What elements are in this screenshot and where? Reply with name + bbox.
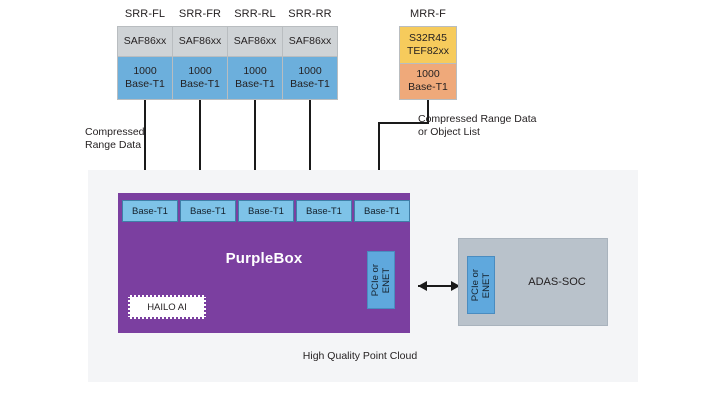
hailo-ai-accelerator[interactable]: HAILO AI bbox=[128, 295, 206, 319]
sensor-module-srr-rr: SAF86xx 1000 Base-T1 bbox=[282, 26, 338, 100]
sensor-chip-label: SAF86xx bbox=[173, 27, 227, 57]
diagram-canvas: SRR-FL SAF86xx 1000 Base-T1 SRR-FR SAF86… bbox=[0, 0, 720, 405]
sensor-chip-label: S32R45 TEF82xx bbox=[400, 27, 456, 64]
sensor-chip-label: SAF86xx bbox=[118, 27, 172, 57]
sensor-module-mrr-f: S32R45 TEF82xx 1000 Base-T1 bbox=[399, 26, 457, 100]
sensor-chip-label: SAF86xx bbox=[228, 27, 282, 57]
sensor-title-srr-rl: SRR-RL bbox=[227, 8, 283, 20]
sensor-chip-label: SAF86xx bbox=[283, 27, 337, 57]
soc-pcie-enet-interface[interactable]: PCIe or ENET bbox=[467, 256, 495, 314]
arrowhead-left-icon bbox=[418, 281, 427, 291]
purplebox-interface-label: PCIe or ENET bbox=[370, 264, 392, 296]
annotation-compressed-range-data: Compressed Range Data bbox=[85, 126, 145, 152]
annotation-compressed-range-or-object-list: Compressed Range Data or Object List bbox=[418, 113, 536, 139]
purplebox-module: PurpleBox Base-T1 Base-T1 Base-T1 Base-T… bbox=[118, 193, 410, 333]
sensor-title-mrr-f: MRR-F bbox=[399, 8, 457, 20]
sensor-module-srr-fl: SAF86xx 1000 Base-T1 bbox=[117, 26, 173, 100]
sensor-title-srr-fr: SRR-FR bbox=[172, 8, 228, 20]
purplebox-port-5[interactable]: Base-T1 bbox=[354, 200, 410, 222]
sensor-module-srr-fr: SAF86xx 1000 Base-T1 bbox=[172, 26, 228, 100]
sensor-phy-label: 1000 Base-T1 bbox=[283, 57, 337, 99]
sensor-phy-label: 1000 Base-T1 bbox=[400, 64, 456, 100]
adas-soc-title: ADAS-SOC bbox=[507, 239, 607, 325]
sensor-title-srr-fl: SRR-FL bbox=[117, 8, 173, 20]
sensor-title-srr-rr: SRR-RR bbox=[282, 8, 338, 20]
sensor-phy-label: 1000 Base-T1 bbox=[228, 57, 282, 99]
diagram-caption: High Quality Point Cloud bbox=[0, 350, 720, 362]
purplebox-port-2[interactable]: Base-T1 bbox=[180, 200, 236, 222]
purplebox-pcie-enet-interface[interactable]: PCIe or ENET bbox=[367, 251, 395, 309]
purplebox-port-3[interactable]: Base-T1 bbox=[238, 200, 294, 222]
soc-interface-label: PCIe or ENET bbox=[470, 269, 492, 301]
purplebox-port-1[interactable]: Base-T1 bbox=[122, 200, 178, 222]
adas-soc-module: PCIe or ENET ADAS-SOC bbox=[458, 238, 608, 326]
sensor-phy-label: 1000 Base-T1 bbox=[118, 57, 172, 99]
sensor-phy-label: 1000 Base-T1 bbox=[173, 57, 227, 99]
purplebox-port-4[interactable]: Base-T1 bbox=[296, 200, 352, 222]
sensor-module-srr-rl: SAF86xx 1000 Base-T1 bbox=[227, 26, 283, 100]
